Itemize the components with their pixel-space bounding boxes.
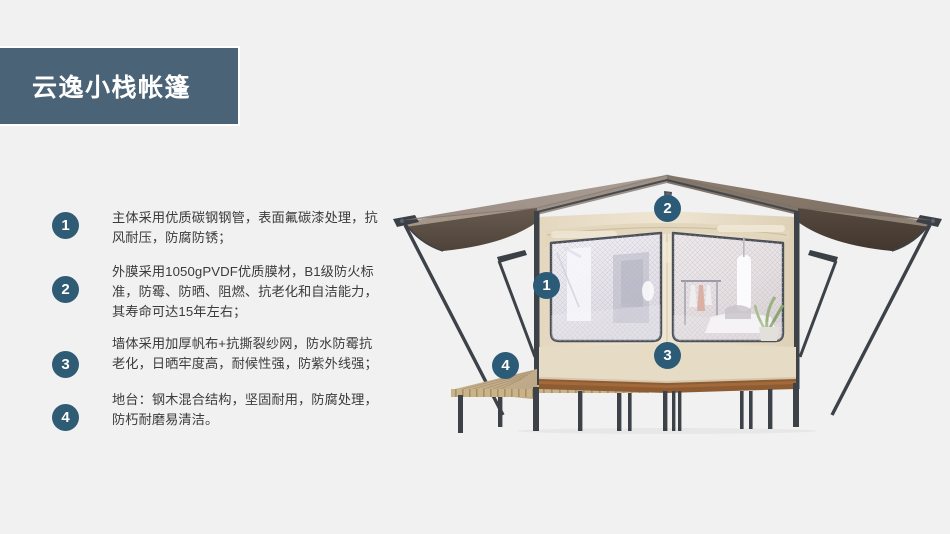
feature-text: 墙体采用加厚帆布+抗撕裂纱网，防水防霉抗老化，日晒牢度高，耐候性强，防紫外线强；: [112, 334, 382, 374]
callout-badge-1[interactable]: 1: [533, 272, 560, 299]
right-window: [673, 233, 783, 341]
list-item: 2 外膜采用1050gPVDF优质膜材，B1级防火标准，防霉、防晒、阻燃、抗老化…: [52, 262, 382, 322]
feature-body: 外膜采用1050gPVDF优质膜材，B1级防火标准，防霉、防晒、阻燃、抗老化和自…: [112, 262, 382, 322]
page-title-box: 云逸小栈帐篷: [0, 46, 240, 126]
feature-list: 1 主体采用优质碳钢钢管，表面氟碳漆处理，抗风耐压，防腐防锈； 2 外膜采用10…: [52, 208, 382, 431]
slide-canvas: 云逸小栈帐篷 1 主体采用优质碳钢钢管，表面氟碳漆处理，抗风耐压，防腐防锈； 2…: [0, 0, 950, 534]
callout-badge-2[interactable]: 2: [654, 195, 681, 222]
feature-body: 主体采用优质碳钢钢管，表面氟碳漆处理，抗风耐压，防腐防锈；: [112, 208, 382, 248]
left-window: [551, 233, 661, 341]
right-wing-strut-fitting: [808, 250, 838, 263]
feature-number-badge: 1: [52, 212, 79, 239]
callout-badge-4[interactable]: 4: [492, 352, 519, 379]
feature-text: 外膜采用1050gPVDF优质膜材，B1级防火标准，防霉、防晒、阻燃、抗老化和自…: [112, 262, 382, 322]
tent-illustration: 1 2 3 4: [385, 165, 950, 435]
feature-number-badge: 2: [52, 276, 79, 303]
list-item: 1 主体采用优质碳钢钢管，表面氟碳漆处理，抗风耐压，防腐防锈；: [52, 208, 382, 248]
list-item: 4 地台：钢木混合结构，坚固耐用，防腐处理，防朽耐磨易清洁。: [52, 390, 382, 431]
callout-badge-3[interactable]: 3: [654, 342, 681, 369]
list-item: 3 墙体采用加厚帆布+抗撕裂纱网，防水防霉抗老化，日晒牢度高，耐候性强，防紫外线…: [52, 334, 382, 378]
feature-text: 主体采用优质碳钢钢管，表面氟碳漆处理，抗风耐压，防腐防锈；: [112, 208, 382, 248]
feature-number-badge: 4: [52, 404, 79, 431]
feature-body: 地台：钢木混合结构，坚固耐用，防腐处理，防朽耐磨易清洁。: [112, 390, 382, 430]
page-title: 云逸小栈帐篷: [0, 68, 191, 104]
feature-text: 地台：钢木混合结构，坚固耐用，防腐处理，防朽耐磨易清洁。: [112, 390, 382, 430]
feature-body: 墙体采用加厚帆布+抗撕裂纱网，防水防霉抗老化，日晒牢度高，耐候性强，防紫外线强；: [112, 334, 382, 374]
left-wing-strut-fitting: [497, 250, 527, 263]
feature-number-badge: 3: [52, 351, 79, 378]
